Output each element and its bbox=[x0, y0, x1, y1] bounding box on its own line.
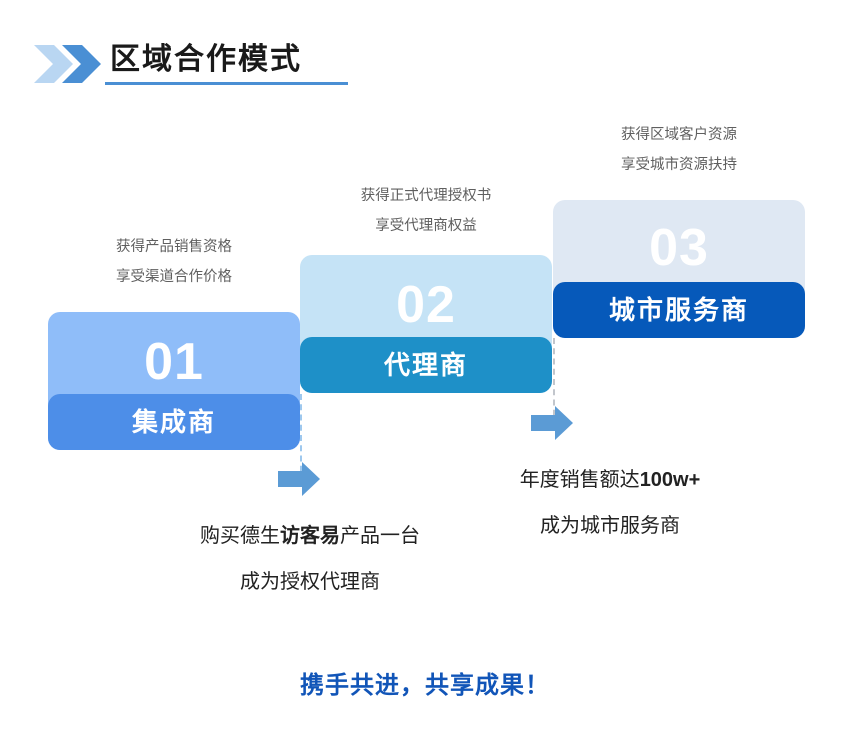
title-underline bbox=[105, 82, 348, 85]
step-02-benefit-line-1: 获得正式代理授权书 bbox=[300, 181, 552, 211]
footer-slogan: 携手共进，共享成果！ bbox=[0, 670, 850, 702]
connector-caption-2-line-2: 成为城市服务商 bbox=[455, 503, 765, 549]
step-02-title-label: 代理商 bbox=[384, 350, 468, 380]
caption-1-prefix: 购买德生 bbox=[200, 525, 280, 547]
connector-caption-1-line-2: 成为授权代理商 bbox=[155, 559, 465, 605]
step-03-title-bar: 城市服务商 bbox=[553, 282, 805, 338]
connector-caption-1-line-1: 购买德生访客易产品一台 bbox=[155, 513, 465, 559]
step-02-number: 02 bbox=[300, 275, 552, 335]
double-chevron-right-icon bbox=[34, 45, 106, 83]
connector-caption-1: 购买德生访客易产品一台 成为授权代理商 bbox=[155, 513, 465, 605]
caption-1-suffix: 产品一台 bbox=[340, 525, 420, 547]
arrow-right-icon-1 bbox=[278, 462, 320, 496]
caption-2-prefix: 年度销售额达 bbox=[520, 469, 640, 491]
step-01-benefits: 获得产品销售资格 享受渠道合作价格 bbox=[48, 232, 300, 292]
step-02-benefit-line-2: 享受代理商权益 bbox=[300, 211, 552, 241]
step-03-title-label: 城市服务商 bbox=[609, 295, 749, 325]
step-02-benefits: 获得正式代理授权书 享受代理商权益 bbox=[300, 181, 552, 241]
connector-caption-2: 年度销售额达100w+ 成为城市服务商 bbox=[455, 457, 765, 549]
step-03-benefit-line-2: 享受城市资源扶持 bbox=[553, 150, 805, 180]
page-title: 区域合作模式 bbox=[110, 42, 302, 78]
page-header: 区域合作模式 bbox=[0, 0, 850, 100]
step-03-benefits: 获得区域客户资源 享受城市资源扶持 bbox=[553, 120, 805, 180]
step-01-title-bar: 集成商 bbox=[48, 394, 300, 450]
step-03-number: 03 bbox=[553, 218, 805, 278]
step-02-title-bar: 代理商 bbox=[300, 337, 552, 393]
caption-1-strong: 访客易 bbox=[280, 525, 340, 547]
step-01-number: 01 bbox=[48, 332, 300, 392]
caption-2-strong: 100w+ bbox=[640, 469, 701, 491]
step-01-benefit-line-1: 获得产品销售资格 bbox=[48, 232, 300, 262]
arrow-right-icon-2 bbox=[531, 406, 573, 440]
step-01-benefit-line-2: 享受渠道合作价格 bbox=[48, 262, 300, 292]
step-01-title-label: 集成商 bbox=[132, 407, 216, 437]
connector-caption-2-line-1: 年度销售额达100w+ bbox=[455, 457, 765, 503]
step-03-benefit-line-1: 获得区域客户资源 bbox=[553, 120, 805, 150]
